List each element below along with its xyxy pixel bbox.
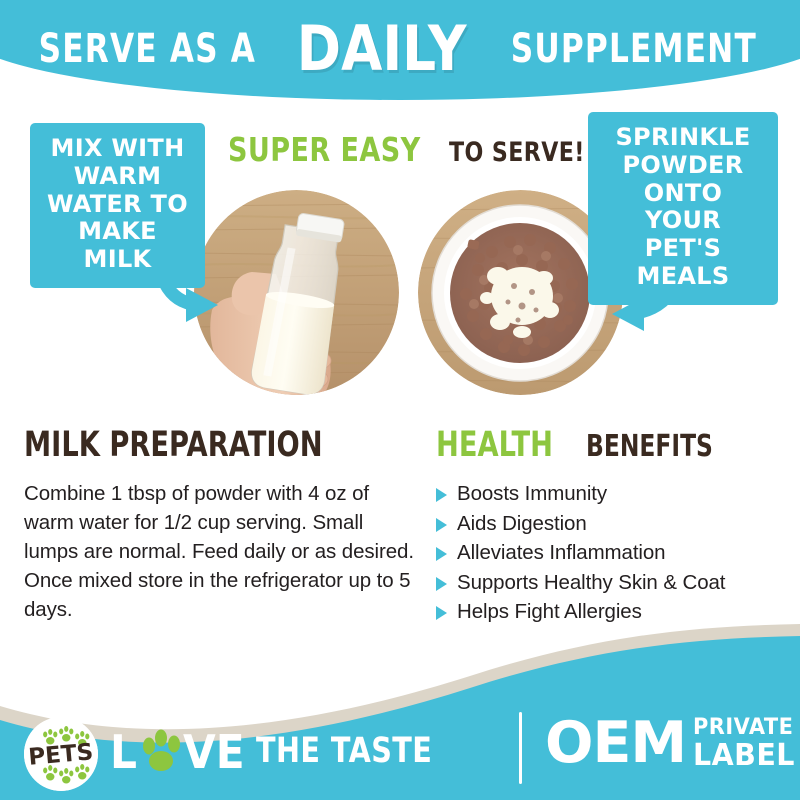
- milk-preparation-body: Combine 1 tbsp of powder with 4 oz of wa…: [24, 479, 414, 625]
- love-the-taste-rest: THE TASTE: [256, 734, 432, 769]
- brand-lockup-oem-private-label: OEMPRIVATELABEL: [545, 715, 800, 772]
- header-title-part1: SERVE AS A: [39, 29, 256, 69]
- brand-oem: OEM: [545, 715, 686, 772]
- health-benefits-title: HEALTHBENEFITS: [436, 428, 786, 463]
- love-letter-l: L: [110, 729, 137, 775]
- callout-mix-with-warm-water: MIX WITH WARM WATER TO MAKE MILK: [30, 123, 205, 288]
- list-item: Supports Healthy Skin & Coat: [436, 568, 786, 598]
- infographic-page: SERVE AS ADAILYSUPPLEMENT: [0, 0, 800, 800]
- tagline-green-part: SUPER EASY: [228, 133, 421, 166]
- pets-badge: PETS: [24, 717, 98, 791]
- footer-banner: PETS LVETHE TASTE OEMPRIVATELABEL: [0, 620, 800, 800]
- section-health-benefits: HEALTHBENEFITS Boosts Immunity Aids Dige…: [436, 428, 786, 627]
- tagline-super-easy-to-serve: SUPER EASYTO SERVE!: [228, 133, 615, 166]
- love-the-taste-lockup: LVETHE TASTE: [110, 727, 471, 776]
- health-benefits-title-dark: BENEFITS: [586, 432, 713, 462]
- brand-private: PRIVATE: [693, 717, 795, 739]
- page-title: SERVE AS ADAILYSUPPLEMENT: [0, 18, 800, 80]
- footer-divider: [519, 712, 522, 784]
- header-title-part2: SUPPLEMENT: [511, 29, 757, 69]
- section-milk-preparation: MILK PREPARATION Combine 1 tbsp of powde…: [24, 428, 414, 625]
- callout-sprinkle-powder: SPRINKLE POWDER ONTO YOUR PET'S MEALS: [588, 112, 778, 305]
- brand-label: LABEL: [693, 741, 795, 771]
- milk-preparation-title-text: MILK PREPARATION: [24, 428, 323, 463]
- header-title-emphasis: DAILY: [297, 18, 467, 80]
- list-item-label: Aids Digestion: [457, 509, 587, 539]
- triangle-bullet-icon: [436, 547, 447, 561]
- list-item-label: Supports Healthy Skin & Coat: [457, 568, 725, 598]
- list-item: Aids Digestion: [436, 509, 786, 539]
- list-item: Boosts Immunity: [436, 479, 786, 509]
- milk-preparation-title: MILK PREPARATION: [24, 428, 414, 463]
- triangle-bullet-icon: [436, 606, 447, 620]
- triangle-bullet-icon: [436, 488, 447, 502]
- triangle-bullet-icon: [436, 518, 447, 532]
- list-item-label: Boosts Immunity: [457, 479, 607, 509]
- health-benefits-title-green: HEALTH: [436, 428, 553, 463]
- footer-content: PETS LVETHE TASTE OEMPRIVATELABEL: [0, 620, 800, 800]
- brand-private-label-stack: PRIVATELABEL: [693, 717, 800, 771]
- paw-print-icon: [139, 727, 185, 776]
- health-benefits-list: Boosts Immunity Aids Digestion Alleviate…: [436, 479, 786, 627]
- triangle-bullet-icon: [436, 577, 447, 591]
- tagline-dark-part: TO SERVE!: [449, 139, 585, 166]
- list-item: Alleviates Inflammation: [436, 538, 786, 568]
- love-letters-ve: VE: [183, 729, 245, 775]
- list-item-label: Alleviates Inflammation: [457, 538, 666, 568]
- header-banner: SERVE AS ADAILYSUPPLEMENT: [0, 0, 800, 104]
